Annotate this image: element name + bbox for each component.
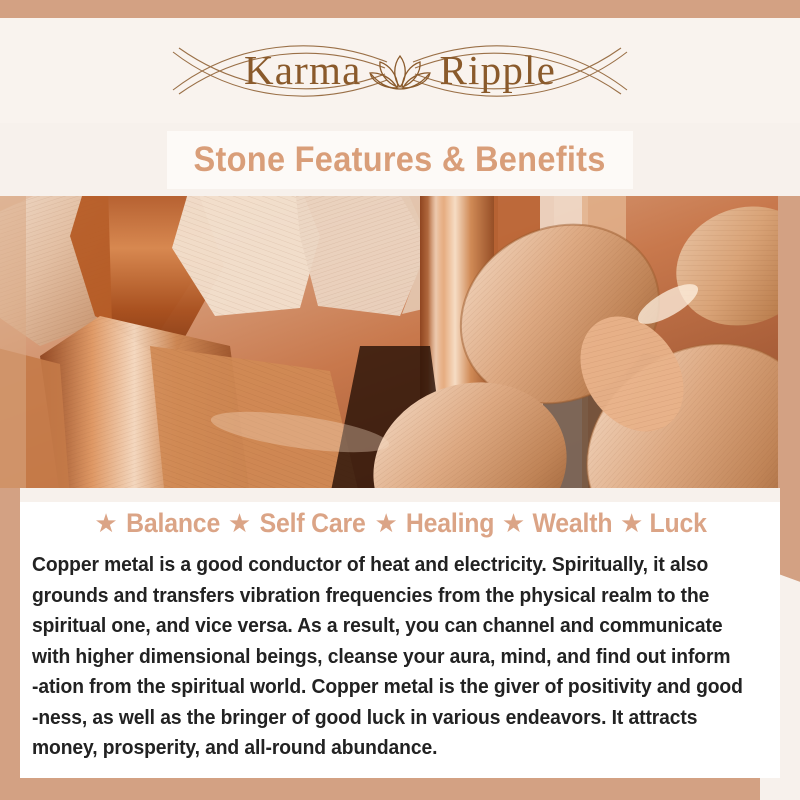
benefit-item-healing: ★ Healing [370,508,497,539]
star-icon: ★ [374,510,397,536]
description-line: -ness, as well as the bringer of good lu… [32,703,726,734]
brand-logo: Karma Ripple [165,28,635,114]
benefit-label: Balance [126,508,220,539]
description-line: spiritual one, and vice versa. As a resu… [32,611,726,642]
benefit-label: Self Care [260,508,366,539]
star-icon: ★ [502,510,525,536]
star-icon: ★ [620,510,643,536]
description-line: with higher dimensional beings, cleanse … [32,642,726,673]
description-text: Copper metal is a good conductor of heat… [32,550,770,764]
page-title: Stone Features & Benefits [194,140,606,180]
brand-word-karma: Karma [244,50,362,91]
star-icon: ★ [94,510,117,536]
panel-top-spacer [20,488,780,502]
benefit-item-luck: ★ Luck [616,508,710,539]
benefit-label: Luck [650,508,707,539]
brand-header: Karma Ripple [0,18,800,123]
frame-band-right-taper [778,560,800,600]
benefit-item-balance: ★ Balance [90,508,223,539]
benefit-item-wealth: ★ Wealth [498,508,616,539]
frame-band-bottom [0,778,760,800]
frame-band-top [0,0,800,18]
description-line: -ation from the spiritual world. Copper … [32,672,726,703]
description-line: Copper metal is a good conductor of heat… [32,550,726,581]
brand-wordmark: Karma Ripple [165,50,635,91]
page-title-band: Stone Features & Benefits [0,123,800,196]
content-panel: ★ Balance ★ Self Care ★ Healing ★ Wealth… [20,488,780,778]
star-icon: ★ [228,510,251,536]
description-line: money, prosperity, and all-round abundan… [32,733,726,764]
page-title-plate: Stone Features & Benefits [167,131,633,189]
benefit-item-self-care: ★ Self Care [224,508,371,539]
benefits-list: ★ Balance ★ Self Care ★ Healing ★ Wealth… [20,502,780,544]
brand-word-ripple: Ripple [440,50,557,91]
hero-photo: Copper [0,196,800,488]
benefit-label: Healing [406,508,494,539]
description-line: grounds and transfers vibration frequenc… [32,581,726,612]
benefit-label: Wealth [533,508,613,539]
infographic-page: Karma Ripple Stone Features & Benefits [0,0,800,800]
copper-bars-image [0,196,800,488]
